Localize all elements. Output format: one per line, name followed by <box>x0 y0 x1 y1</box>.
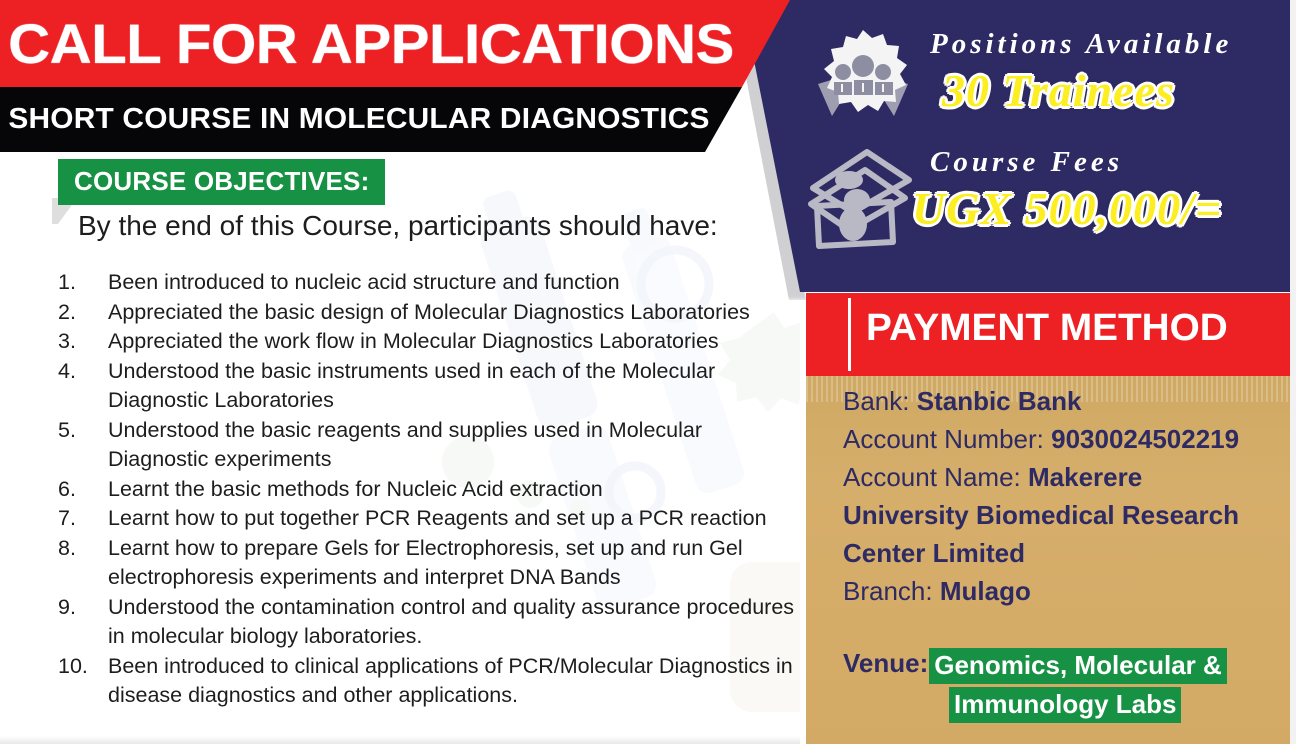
list-item-text: Appreciated the work flow in Molecular D… <box>108 327 797 357</box>
right-edge-margin <box>1290 0 1296 744</box>
list-item-number: 10. <box>52 652 108 682</box>
list-item-text: Understood the basic reagents and suppli… <box>108 416 797 475</box>
payment-method-title: PAYMENT METHOD <box>866 307 1228 350</box>
payment-bank-row: Bank: Stanbic Bank <box>843 382 1283 420</box>
list-item-text: Appreciated the basic design of Molecula… <box>108 298 797 328</box>
list-item-number: 1. <box>52 268 108 298</box>
payment-account-number-row: Account Number: 9030024502219 <box>843 420 1283 458</box>
objectives-list: 1. Been introduced to nucleic acid struc… <box>52 268 797 711</box>
bank-value: Stanbic Bank <box>917 386 1082 416</box>
page-subtitle: SHORT COURSE IN MOLECULAR DIAGNOSTICS <box>0 87 729 152</box>
venue-label: Venue: <box>843 648 928 679</box>
banknotes-icon <box>805 146 923 254</box>
award-badge-people-icon <box>808 28 918 132</box>
payment-account-name-row: Account Name: Makerere <box>843 458 1283 496</box>
payment-details-list: Bank: Stanbic Bank Account Number: 90300… <box>843 382 1283 610</box>
list-item-number: 5. <box>52 416 108 446</box>
page-title: CALL FOR APPLICATIONS <box>0 0 757 87</box>
list-item-text: Been introduced to nucleic acid structur… <box>108 268 797 298</box>
list-item: 3. Appreciated the work flow in Molecula… <box>52 327 797 357</box>
objectives-tab-label: COURSE OBJECTIVES: <box>58 159 385 205</box>
list-item-number: 7. <box>52 504 108 534</box>
positions-available-label: Positions Available <box>930 28 1232 61</box>
bottom-edge-fade <box>0 736 800 744</box>
venue-value-line1: Genomics, Molecular & <box>929 648 1227 684</box>
payment-account-name-row-2: University Biomedical Research <box>843 496 1283 534</box>
list-item: 1. Been introduced to nucleic acid struc… <box>52 268 797 298</box>
list-item-number: 8. <box>52 534 108 564</box>
list-item: 4. Understood the basic instruments used… <box>52 357 797 416</box>
list-item-text: Understood the contamination control and… <box>108 593 797 652</box>
list-item-number: 3. <box>52 327 108 357</box>
list-item-text: Been introduced to clinical applications… <box>108 652 797 711</box>
list-item: 2. Appreciated the basic design of Molec… <box>52 298 797 328</box>
bank-label: Bank: <box>843 386 910 416</box>
course-fees-value: UGX 500,000/= <box>912 182 1222 235</box>
list-item-number: 6. <box>52 475 108 505</box>
list-item: 10. Been introduced to clinical applicat… <box>52 652 797 711</box>
venue-row: Venue:Genomics, Molecular & Immunology L… <box>843 648 1227 723</box>
account-name-value-line2: University Biomedical Research <box>843 500 1239 530</box>
branch-value: Mulago <box>940 576 1031 606</box>
poster-root: CALL FOR APPLICATIONS SHORT COURSE IN MO… <box>0 0 1296 744</box>
list-item: 8. Learnt how to prepare Gels for Electr… <box>52 534 797 593</box>
account-name-value-line3: Center Limited <box>843 538 1025 568</box>
positions-available-value: 30 Trainees <box>942 64 1175 117</box>
list-item-number: 9. <box>52 593 108 623</box>
list-item-number: 4. <box>52 357 108 387</box>
list-item-text: Learnt the basic methods for Nucleic Aci… <box>108 475 797 505</box>
list-item: 9. Understood the contamination control … <box>52 593 797 652</box>
objectives-intro-text: By the end of this Course, participants … <box>78 210 718 242</box>
account-number-label: Account Number: <box>843 424 1044 454</box>
list-item-number: 2. <box>52 298 108 328</box>
account-name-value: Makerere <box>1028 462 1142 492</box>
payment-header-divider <box>848 298 851 371</box>
account-name-label: Account Name: <box>843 462 1021 492</box>
list-item: 7. Learnt how to put together PCR Reagen… <box>52 504 797 534</box>
account-number-value: 9030024502219 <box>1051 424 1239 454</box>
branch-label: Branch: <box>843 576 933 606</box>
payment-branch-row: Branch: Mulago <box>843 572 1283 610</box>
list-item: 6. Learnt the basic methods for Nucleic … <box>52 475 797 505</box>
list-item: 5. Understood the basic reagents and sup… <box>52 416 797 475</box>
payment-account-name-row-3: Center Limited <box>843 534 1283 572</box>
list-item-text: Understood the basic instruments used in… <box>108 357 797 416</box>
venue-value-line2: Immunology Labs <box>949 687 1181 723</box>
list-item-text: Learnt how to prepare Gels for Electroph… <box>108 534 797 593</box>
list-item-text: Learnt how to put together PCR Reagents … <box>108 504 797 534</box>
course-fees-label: Course Fees <box>930 146 1123 179</box>
